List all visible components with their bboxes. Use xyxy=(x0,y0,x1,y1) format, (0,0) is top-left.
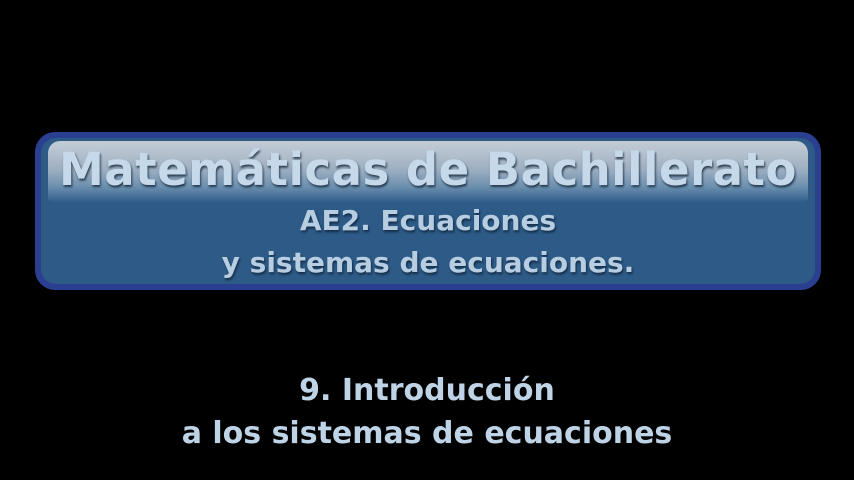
unit-subtitle-line-1: AE2. Ecuaciones xyxy=(41,207,815,235)
lesson-caption-line-1: 9. Introducción xyxy=(0,370,854,413)
unit-subtitle-line-2: y sistemas de ecuaciones. xyxy=(41,249,815,277)
title-banner-text-group: Matemáticas de Bachillerato AE2. Ecuacio… xyxy=(41,138,815,284)
lesson-caption: 9. Introducción a los sistemas de ecuaci… xyxy=(0,370,854,455)
presentation-slide: Matemáticas de Bachillerato AE2. Ecuacio… xyxy=(0,0,854,480)
course-title: Matemáticas de Bachillerato xyxy=(41,147,815,192)
title-banner: Matemáticas de Bachillerato AE2. Ecuacio… xyxy=(35,132,821,290)
title-banner-body: Matemáticas de Bachillerato AE2. Ecuacio… xyxy=(41,138,815,284)
lesson-caption-line-2: a los sistemas de ecuaciones xyxy=(0,413,854,456)
